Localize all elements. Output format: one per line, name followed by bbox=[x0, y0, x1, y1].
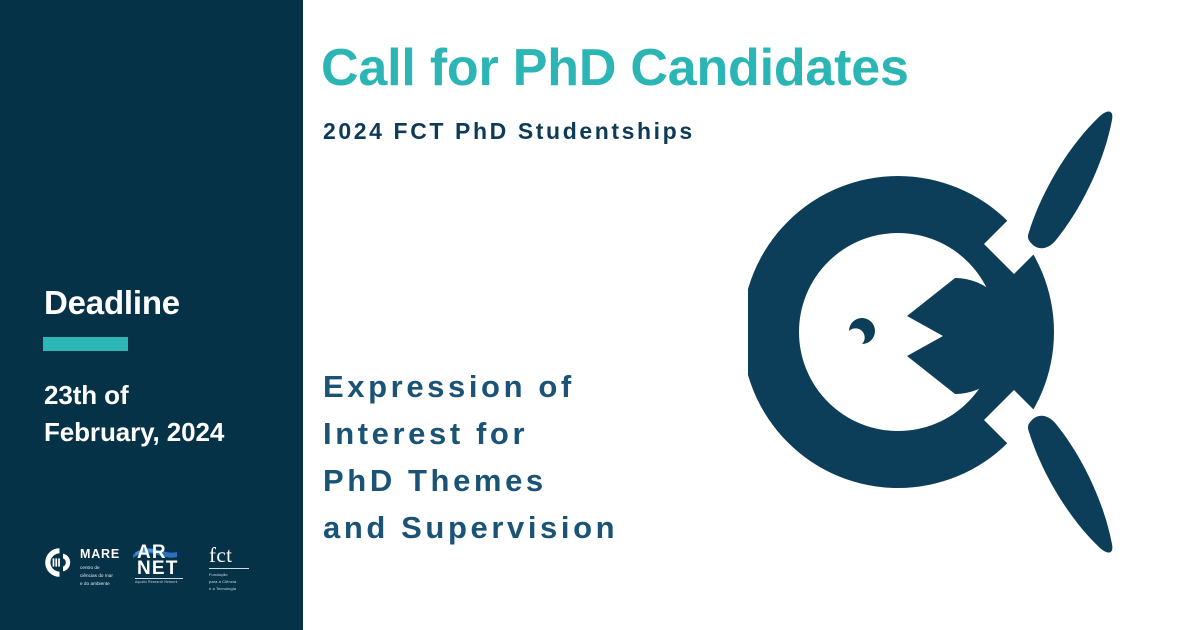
mare-logo-mark-icon bbox=[748, 88, 1148, 576]
body-text-block: Expression of Interest for PhD Themes an… bbox=[323, 363, 743, 551]
poster-canvas: Deadline 23th of February, 2024 bbox=[0, 0, 1200, 630]
fct-wordmark: fct bbox=[209, 545, 232, 566]
body-line-4: and Supervision bbox=[323, 504, 743, 551]
fct-tagline-line-1: Fundação bbox=[209, 572, 259, 579]
mare-logo: MARE centro de ciências do mar e do ambi… bbox=[44, 534, 140, 600]
deadline-date: 23th of February, 2024 bbox=[44, 377, 294, 451]
left-sidebar: Deadline 23th of February, 2024 bbox=[0, 0, 303, 630]
teal-underline-rule bbox=[43, 337, 128, 351]
deadline-label: Deadline bbox=[44, 286, 180, 321]
body-line-1: Expression of bbox=[323, 363, 743, 410]
fct-tagline: Fundação para a Ciência e a Tecnologia bbox=[209, 572, 259, 592]
fct-tagline-line-3: e a Tecnologia bbox=[209, 586, 259, 593]
fct-logo: fct Fundação para a Ciência e a Tecnolog… bbox=[205, 534, 267, 600]
arnet-wordmark-line-2: NET bbox=[137, 559, 179, 578]
arnet-logo: AR NET Aquatic Research Network bbox=[131, 534, 194, 600]
body-line-2: Interest for bbox=[323, 410, 743, 457]
partner-logo-row: MARE centro de ciências do mar e do ambi… bbox=[0, 534, 303, 600]
page-subtitle: 2024 FCT PhD Studentships bbox=[323, 117, 695, 146]
mare-circle-mark-icon bbox=[44, 547, 75, 578]
body-line-3: PhD Themes bbox=[323, 457, 743, 504]
mare-wordmark: MARE bbox=[80, 548, 120, 561]
fct-divider bbox=[209, 568, 249, 569]
deadline-date-line-1: 23th of bbox=[44, 377, 294, 414]
fct-tagline-line-2: para a Ciência bbox=[209, 579, 259, 586]
arnet-tagline: Aquatic Research Network bbox=[135, 580, 187, 585]
arnet-divider bbox=[135, 578, 183, 579]
deadline-date-line-2: February, 2024 bbox=[44, 414, 294, 451]
